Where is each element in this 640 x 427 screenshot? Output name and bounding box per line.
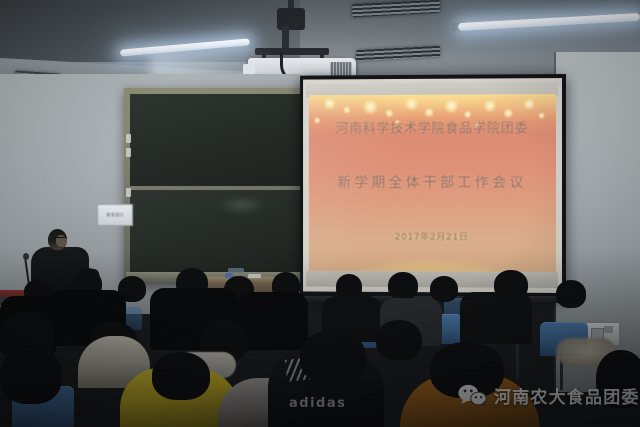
adidas-logo-text: adidas xyxy=(289,396,346,411)
audience-member xyxy=(388,272,418,300)
screen-surface: 河南科学技术学院食品学院团委 新学期全体干部工作会议 2017年2月21日 xyxy=(303,78,562,293)
wall-sign: 安全出口 xyxy=(97,204,133,226)
slide-subtitle: 新学期全体干部工作会议 xyxy=(309,172,556,192)
audience-member xyxy=(430,276,458,302)
blackboard-panel xyxy=(130,94,304,186)
audience-member xyxy=(556,280,586,308)
audience-member xyxy=(376,320,422,360)
audience-member xyxy=(300,330,366,384)
blackboard-clip xyxy=(126,148,131,157)
blackboard-clip xyxy=(126,134,131,143)
audience-member xyxy=(238,292,308,350)
blackboard-clip xyxy=(126,188,131,197)
wechat-icon xyxy=(458,384,487,407)
audience-member xyxy=(460,292,532,344)
audience-member xyxy=(0,346,62,404)
slide-date: 2017年2月21日 xyxy=(309,229,556,243)
blackboard-glare xyxy=(218,196,266,214)
glasses-icon xyxy=(54,237,67,241)
presentation-slide: 河南科学技术学院食品学院团委 新学期全体干部工作会议 2017年2月21日 xyxy=(309,94,556,275)
audience-member xyxy=(152,352,210,400)
microphone-icon xyxy=(23,253,29,260)
seat-leg xyxy=(516,344,519,378)
photo-scene: 安全出口 河南科学技 xyxy=(0,0,640,427)
watermark-text: 河南农大食品团委 xyxy=(494,383,640,408)
slide-title: 河南科学技术学院食品学院团委 xyxy=(309,117,556,137)
wechat-account-watermark: 河南农大食品团委 xyxy=(458,383,640,408)
